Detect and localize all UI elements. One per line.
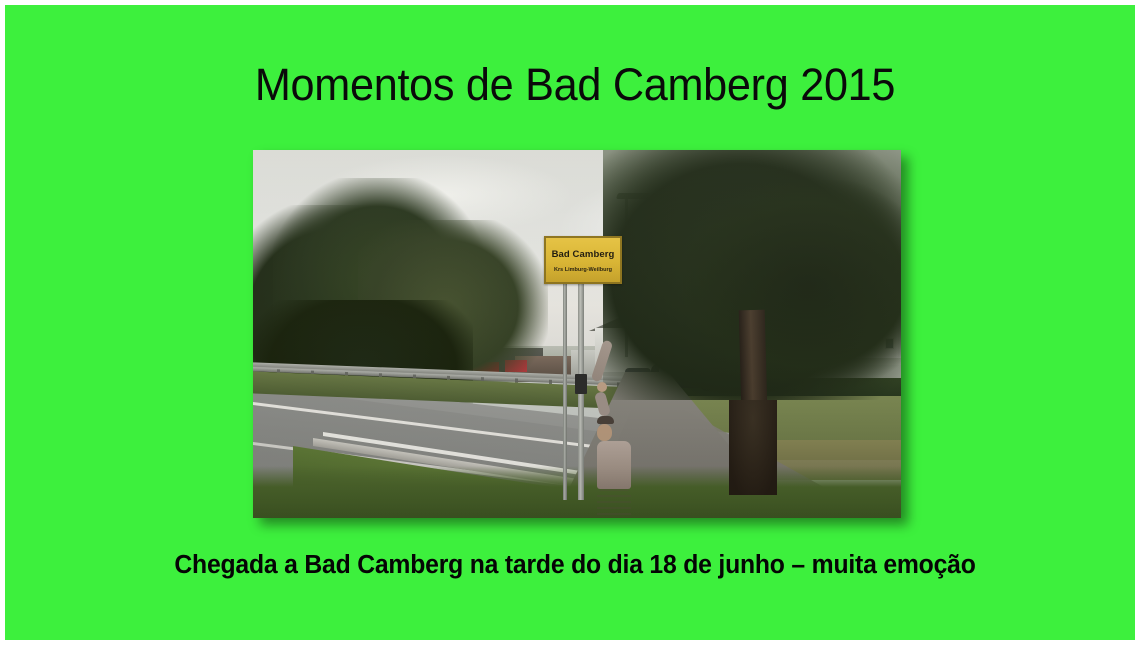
person-head xyxy=(597,424,612,441)
tree-trunk xyxy=(729,400,777,495)
person-shirt-pattern xyxy=(597,489,631,518)
tree-foliage xyxy=(683,180,901,390)
page-title: Momentos de Bad Camberg 2015 xyxy=(28,57,1122,113)
person-waving xyxy=(597,340,677,500)
person-hair xyxy=(597,416,614,424)
photo-caption: Chegada a Bad Camberg na tarde do dia 18… xyxy=(22,548,1128,582)
person-forearm xyxy=(594,391,611,417)
slide: Momentos de Bad Camberg 2015 xyxy=(0,0,1140,645)
sign-post-plate xyxy=(575,374,587,394)
grass-foreground xyxy=(253,466,901,518)
person-shirt xyxy=(597,441,631,489)
town-sign-district: Krs Limburg-Weilburg xyxy=(546,267,620,273)
town-entry-sign: Bad Camberg Krs Limburg-Weilburg xyxy=(544,236,622,284)
town-sign-name: Bad Camberg xyxy=(546,249,620,260)
sign-post xyxy=(563,258,567,500)
slide-photo: Bad Camberg Krs Limburg-Weilburg xyxy=(253,150,901,518)
person-hand xyxy=(597,382,607,392)
